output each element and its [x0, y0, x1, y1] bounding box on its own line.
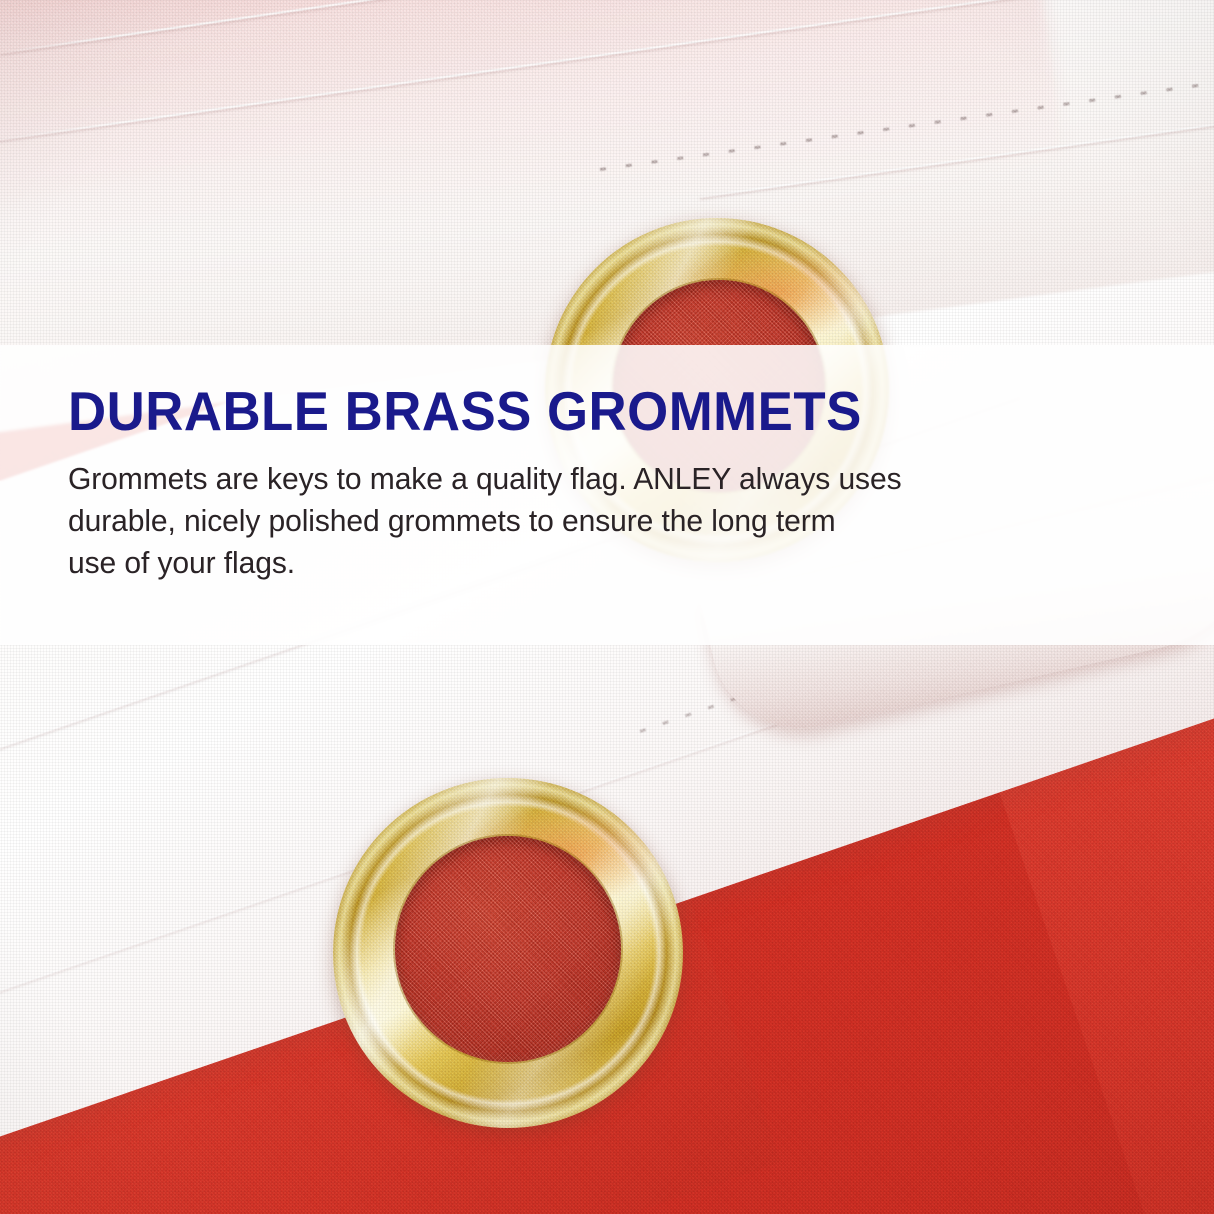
- body-copy-line-1: Grommets are keys to make a quality flag…: [68, 459, 1130, 501]
- text-overlay-panel: DURABLE BRASS GROMMETS Grommets are keys…: [0, 345, 1214, 645]
- body-copy: Grommets are keys to make a quality flag…: [68, 459, 1130, 584]
- body-copy-line-2: durable, nicely polished grommets to ens…: [68, 501, 1130, 543]
- lower-grommet: [333, 778, 683, 1128]
- product-feature-card: DURABLE BRASS GROMMETS Grommets are keys…: [0, 0, 1214, 1214]
- body-copy-line-3: use of your flags.: [68, 543, 1130, 585]
- headline: DURABLE BRASS GROMMETS: [68, 383, 1103, 439]
- lower-grommet-hole-fabric-weave: [395, 836, 621, 1062]
- lower-grommet-hole: [395, 836, 621, 1062]
